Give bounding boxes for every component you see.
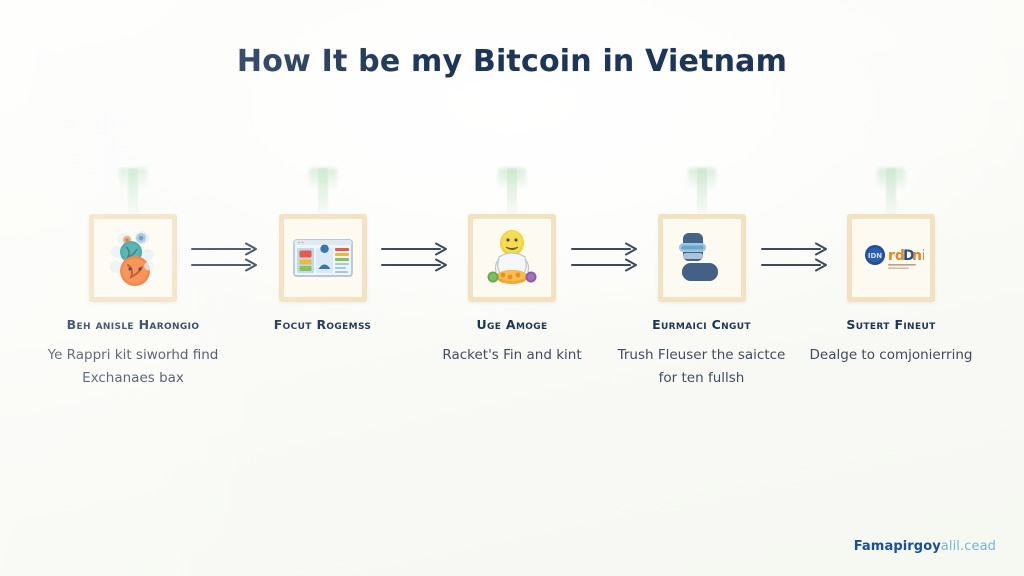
flow-step-5[interactable]: IDN rd D ni Sutert Fineut Dealge to comj… xyxy=(816,168,966,367)
watermark-domain: alil.cead xyxy=(941,539,996,554)
flow-step-4-card[interactable] xyxy=(658,214,746,302)
flow-step-5-card[interactable]: IDN rd D ni xyxy=(847,214,935,302)
page-title: How It be my Bitcoin in Vietnam xyxy=(237,44,787,79)
bitcoin-coins-icon xyxy=(100,225,166,291)
flow-step-5-heading: Sutert Fineut xyxy=(806,316,976,334)
exchange-dashboard-icon xyxy=(290,225,356,291)
flow-step-3-heading: Uge Amoge xyxy=(427,316,597,334)
stem-decoration xyxy=(128,168,138,218)
stem-decoration xyxy=(507,168,517,218)
flow-step-3-card[interactable] xyxy=(468,214,556,302)
process-flow: Beh anisle Harongio Ye Rappri kit siworh… xyxy=(58,168,966,458)
flow-step-2-card[interactable] xyxy=(279,214,367,302)
flow-step-3-body: Racket's Fin and kint xyxy=(423,344,601,367)
flow-step-1-card[interactable] xyxy=(89,214,177,302)
stem-decoration xyxy=(697,168,707,218)
flow-step-1-heading: Beh anisle Harongio xyxy=(48,316,218,334)
flow-step-1[interactable]: Beh anisle Harongio Ye Rappri kit siworh… xyxy=(58,168,208,389)
flow-step-4-heading: Eurmaici Cngut xyxy=(617,316,787,334)
person-with-coins-icon xyxy=(479,225,545,291)
flow-step-4-body: Trush Fleuser the saictce for ten fullsh xyxy=(613,344,791,389)
stem-decoration xyxy=(318,168,328,218)
infographic-canvas: How It be my Bitcoin in Vietnam xyxy=(0,0,1024,576)
flow-step-5-body: Dealge to comjonierring xyxy=(802,344,980,367)
flow-step-4[interactable]: Eurmaici Cngut Trush Fleuser the saictce… xyxy=(627,168,777,389)
flow-step-2[interactable]: Focut Rogemss xyxy=(248,168,398,334)
footer-watermark: Famapirgoyalil.cead xyxy=(854,539,996,554)
svg-text:ni: ni xyxy=(912,248,924,264)
page-title-container: How It be my Bitcoin in Vietnam xyxy=(0,44,1024,79)
flow-step-1-body: Ye Rappri kit siworhd find Exchanaes bax xyxy=(44,344,222,389)
flow-step-3[interactable]: Uge Amoge Racket's Fin and kint xyxy=(437,168,587,367)
brand-logo-icon: IDN rd D ni xyxy=(858,225,924,291)
svg-text:IDN: IDN xyxy=(868,252,882,260)
flow-step-2-heading: Focut Rogemss xyxy=(238,316,408,334)
watermark-brand: Famapirgoy xyxy=(854,539,941,554)
stem-decoration xyxy=(886,168,896,218)
wallet-icon xyxy=(669,225,735,291)
